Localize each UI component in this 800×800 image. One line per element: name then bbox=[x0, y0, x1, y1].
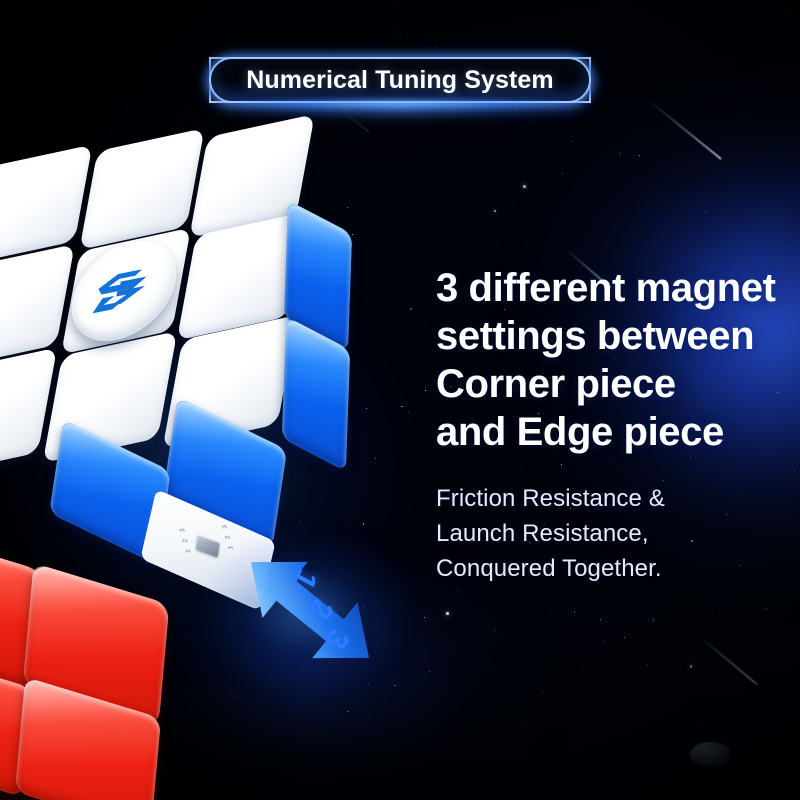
headline-line-2: settings between bbox=[436, 312, 792, 360]
badge-underglow bbox=[239, 99, 561, 108]
headline-line-3: Corner piece bbox=[436, 360, 792, 408]
subtext-line-2: Launch Resistance, bbox=[436, 516, 766, 551]
product-promo-image: Numerical Tuning System bbox=[0, 0, 800, 800]
subtext-line-3: Conquered Together. bbox=[436, 551, 766, 586]
badge-label: Numerical Tuning System bbox=[246, 66, 553, 95]
headline-line-1: 3 different magnet bbox=[436, 264, 792, 312]
subtext: Friction Resistance & Launch Resistance,… bbox=[436, 481, 766, 586]
badge-body: Numerical Tuning System bbox=[209, 57, 591, 103]
headline-line-4: and Edge piece bbox=[436, 408, 792, 456]
subtext-line-1: Friction Resistance & bbox=[436, 481, 766, 516]
title-badge: Numerical Tuning System bbox=[209, 57, 591, 103]
headline: 3 different magnet settings between Corn… bbox=[436, 264, 792, 456]
